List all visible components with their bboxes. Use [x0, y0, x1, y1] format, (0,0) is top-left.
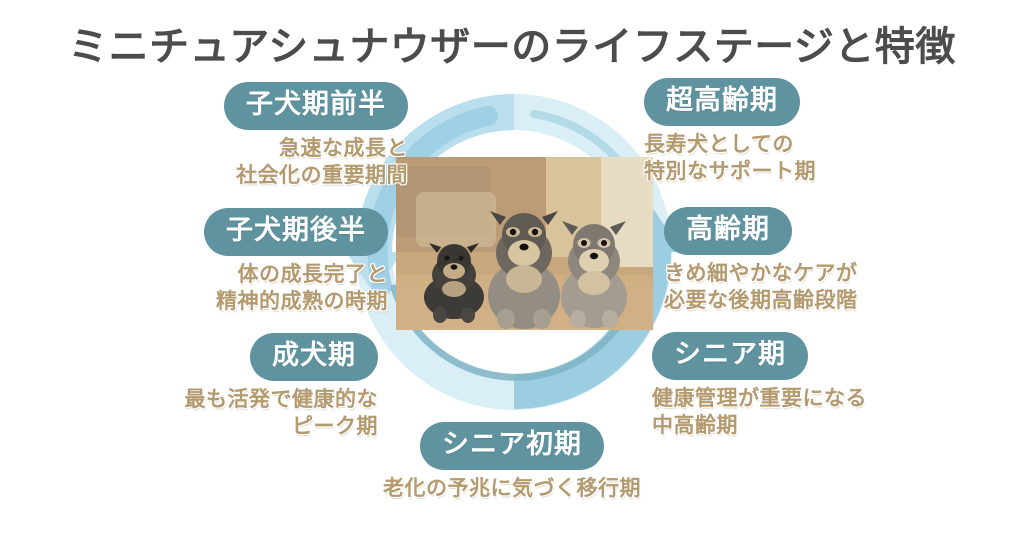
stage-description-elderly: きめ細やかなケアが 必要な後期高齢段階	[664, 261, 994, 315]
stage-label-early-senior: シニア初期	[420, 422, 604, 470]
stage-label-elderly: 高齢期	[664, 207, 792, 255]
stage-super-senior: 超高齢期 長寿犬としての 特別なサポート期	[644, 78, 974, 186]
stage-elderly: 高齢期 きめ細やかなケアが 必要な後期高齢段階	[664, 207, 994, 315]
stage-label-puppy-late: 子犬期後半	[204, 208, 388, 256]
stage-puppy-early: 子犬期前半 急速な成長と 社会化の重要期間	[78, 82, 408, 190]
stage-label-adult: 成犬期	[250, 333, 378, 381]
stage-description-puppy-early: 急速な成長と 社会化の重要期間	[78, 136, 408, 190]
stage-label-super-senior: 超高齢期	[644, 78, 800, 126]
stage-description-super-senior: 長寿犬としての 特別なサポート期	[644, 132, 974, 186]
stage-puppy-late: 子犬期後半 体の成長完了と 精神的成熟の時期	[58, 208, 388, 316]
stage-description-puppy-late: 体の成長完了と 精神的成熟の時期	[58, 262, 388, 316]
schnauzer-life-stages-photo	[396, 157, 653, 330]
stage-description-early-senior: 老化の予兆に気づく移行期	[302, 476, 722, 503]
stage-label-puppy-early: 子犬期前半	[224, 82, 408, 130]
page-title: ミニチュアシュナウザーのライフステージと特徴	[0, 14, 1024, 72]
stage-label-senior: シニア期	[652, 332, 808, 380]
stage-early-senior: シニア初期 老化の予兆に気づく移行期	[302, 422, 722, 503]
infographic-canvas: ミニチュアシュナウザーのライフステージと特徴	[0, 0, 1024, 538]
